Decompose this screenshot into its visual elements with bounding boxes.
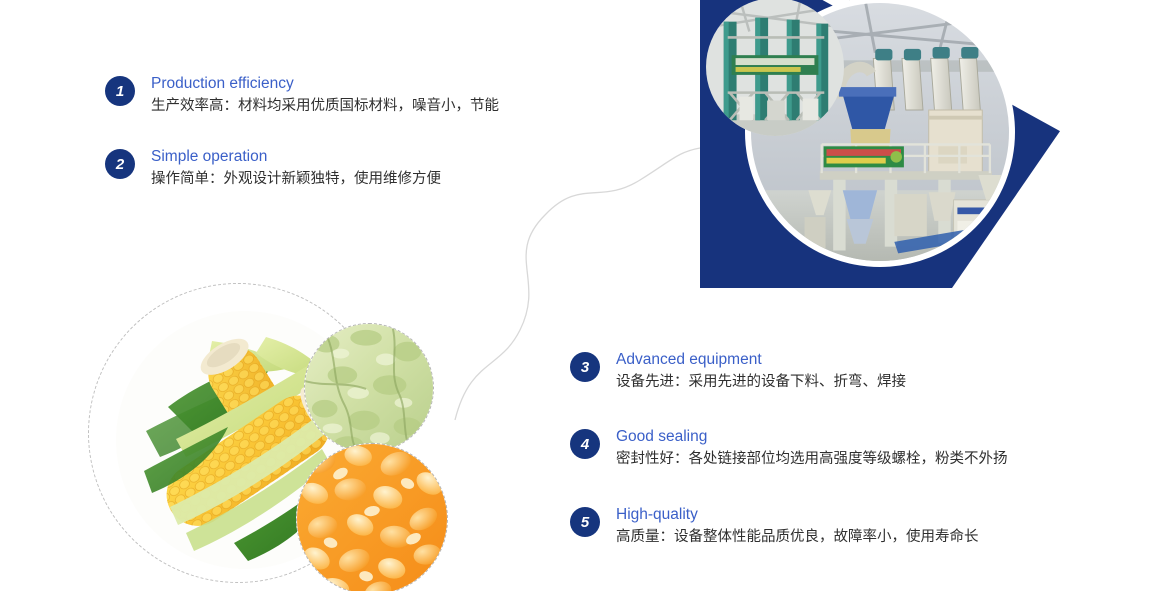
feature-text-1: Production efficiency 生产效率高：材料均采用优质国标材料，… [151, 74, 499, 117]
feature-item-3[interactable]: 3 Advanced equipment 设备先进：采用先进的设备下料、折弯、焊… [570, 350, 906, 393]
feature-item-2[interactable]: 2 Simple operation 操作简单：外观设计新颖独特，使用维修方便 [105, 147, 441, 190]
produce-media-cluster [88, 283, 488, 591]
feature-desc-4: 密封性好：各处链接部位均选用高强度等级螺栓，粉类不外扬 [616, 449, 1008, 470]
feature-title-5: High-quality [616, 505, 979, 525]
feature-text-5: High-quality 高质量：设备整体性能品质优良，故障率小，使用寿命长 [616, 505, 979, 548]
feature-title-2: Simple operation [151, 147, 441, 167]
feature-item-1[interactable]: 1 Production efficiency 生产效率高：材料均采用优质国标材… [105, 74, 499, 117]
feature-title-4: Good sealing [616, 427, 1008, 447]
infographic-page: 1 Production efficiency 生产效率高：材料均采用优质国标材… [0, 0, 1154, 591]
corn-meal-photo [304, 323, 434, 453]
feature-title-1: Production efficiency [151, 74, 499, 94]
feature-badge-2: 2 [105, 149, 135, 179]
feature-badge-4: 4 [570, 429, 600, 459]
feature-title-3: Advanced equipment [616, 350, 906, 370]
top-right-media-cluster [700, 0, 1060, 292]
corn-kernels-photo [296, 443, 448, 591]
feature-desc-2: 操作简单：外观设计新颖独特，使用维修方便 [151, 169, 441, 190]
feature-badge-3: 3 [570, 352, 600, 382]
feature-desc-3: 设备先进：采用先进的设备下料、折弯、焊接 [616, 372, 906, 393]
feature-desc-1: 生产效率高：材料均采用优质国标材料，噪音小，节能 [151, 96, 499, 117]
feature-item-4[interactable]: 4 Good sealing 密封性好：各处链接部位均选用高强度等级螺栓，粉类不… [570, 427, 1008, 470]
feature-item-5[interactable]: 5 High-quality 高质量：设备整体性能品质优良，故障率小，使用寿命长 [570, 505, 979, 548]
feature-text-4: Good sealing 密封性好：各处链接部位均选用高强度等级螺栓，粉类不外扬 [616, 427, 1008, 470]
feature-text-2: Simple operation 操作简单：外观设计新颖独特，使用维修方便 [151, 147, 441, 190]
feature-badge-5: 5 [570, 507, 600, 537]
feature-badge-1: 1 [105, 76, 135, 106]
feature-text-3: Advanced equipment 设备先进：采用先进的设备下料、折弯、焊接 [616, 350, 906, 393]
feature-desc-5: 高质量：设备整体性能品质优良，故障率小，使用寿命长 [616, 527, 979, 548]
